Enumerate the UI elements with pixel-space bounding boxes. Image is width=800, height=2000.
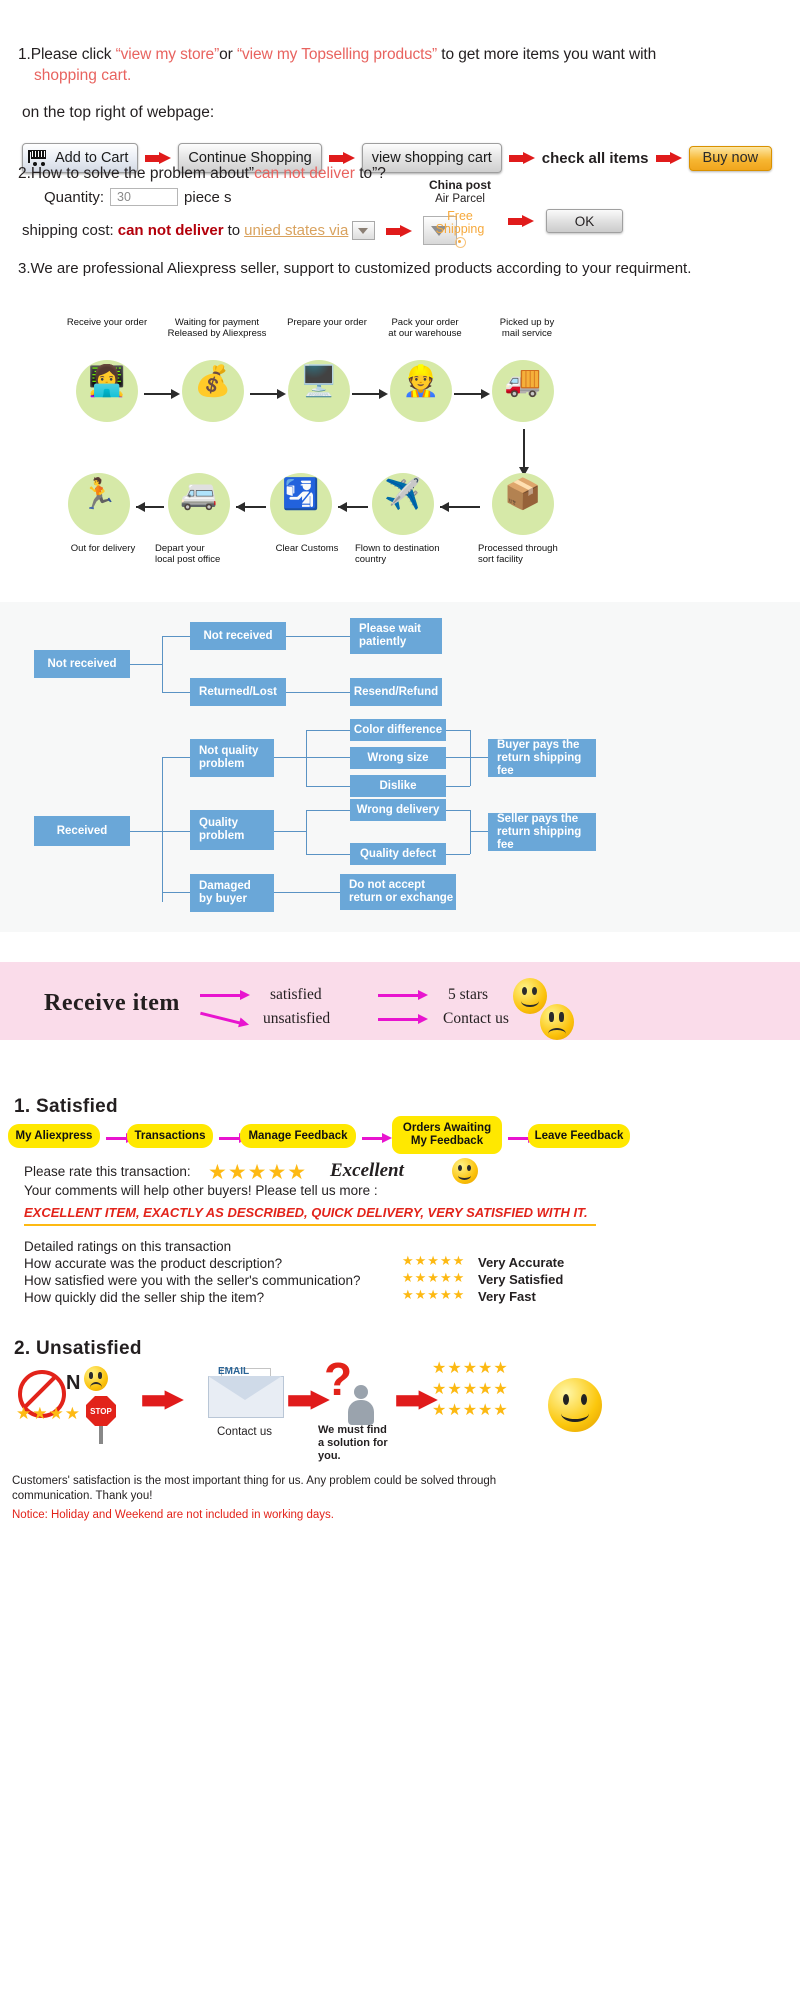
shipping-cost-error: can not deliver [118,222,224,239]
no-letter-label: N [66,1372,80,1395]
check-all-items-label[interactable]: check all items [542,150,649,167]
email-label: EMAIL [218,1366,249,1377]
unsatisfied-heading: 2. Unsatisfied [14,1338,142,1360]
fc-line-5 [286,636,350,637]
return-policy-flowchart: Not received Not received Returned/Lost … [0,602,800,932]
instruction-line-1: 1.Please click “view my store”or “view m… [18,46,656,64]
fc-line-16 [306,786,350,787]
money-bag-icon: 💰 [178,367,248,397]
arrow-right-icon-4 [656,152,682,164]
solution-caption: We must find a solution for you. [318,1424,388,1463]
customs-stamp-icon: 🛂 [266,480,336,510]
detail-verdict-1: Very Accurate [478,1255,564,1270]
continue-shopping-label: Continue Shopping [188,150,311,166]
arrow-right-icon-3 [509,152,535,164]
fc-line-20 [470,730,471,786]
flow-top-label-5: Picked up by mail service [472,317,582,339]
sad-face-icon [540,1004,574,1040]
footer-line-2: communication. Thank you! [12,1489,152,1504]
fc-line-10 [162,831,190,832]
fc-line-25 [306,854,350,855]
stop-octagon: STOP [86,1396,116,1426]
fc-line-19 [446,786,470,787]
fc-line-2 [162,636,163,692]
add-to-cart-label: Add to Cart [55,150,128,166]
fc-quality-problem: Quality problem [190,810,274,850]
fc-line-30 [274,892,340,893]
fc-line-12 [274,757,306,758]
shipping-problem-heading: 2.How to solve the problem about”can not… [18,165,386,183]
fc-no-return: Do not accept return or exchange [340,874,456,910]
fc-line-7 [130,831,162,832]
person-at-computer-icon: 👩‍💻 [72,367,142,397]
worried-face-icon [84,1366,108,1391]
fc-returned-lost: Returned/Lost [190,678,286,706]
fc-damaged-by-buyer: Damaged by buyer [190,874,274,912]
big-happy-face-icon [548,1378,602,1432]
heading-highlight: can not deliver [254,165,355,182]
comment-underline [24,1224,596,1226]
sorting-parcels-icon: 📦 [488,480,558,510]
email-flap [208,1376,282,1400]
quantity-row: Quantity: 30 piece s [44,188,232,206]
worker-packing-icon: 👷 [386,367,456,397]
carrier-info: China post Air Parcel [415,178,505,205]
fc-line-29 [470,831,488,832]
fc-line-6 [286,692,350,693]
link-view-topselling[interactable]: “view my Topselling products” [237,46,437,63]
fc-not-received-child-1: Not received [190,622,286,650]
shipping-process-diagram: Receive your order Waiting for payment R… [0,305,660,585]
ok-button[interactable]: OK [546,209,623,233]
fc-line-22 [274,831,306,832]
post-van-icon: 🚐 [164,480,234,510]
airplane-icon: ✈️ [368,480,438,510]
instruction-line-3: on the top right of webpage: [22,104,214,122]
flow-top-label-3: Prepare your order [272,317,382,328]
banner-unsatisfied-text: unsatisfied [263,1010,330,1028]
fc-line-9 [162,757,190,758]
arrow-right-icon-1 [145,152,171,164]
fc-not-quality-problem: Not quality problem [190,739,274,777]
instruction-mid: or [219,46,237,63]
detail-question-1: How accurate was the product description… [24,1255,282,1272]
flow-bottom-label-4: Flown to destination country [355,543,470,565]
step-my-aliexpress[interactable]: My Aliexpress [8,1124,100,1148]
promo-page: 1.Please click “view my store”or “view m… [0,0,800,2000]
step-manage-feedback[interactable]: Manage Feedback [240,1124,356,1148]
free-shipping-label: Free Shipping [436,209,485,236]
fc-line-11 [162,892,190,893]
shipping-cost-label: shipping cost: [22,222,114,239]
running-courier-icon: 🏃 [64,480,134,510]
footer-notice: Notice: Holiday and Weekend are not incl… [12,1508,334,1523]
instruction-suffix: to get more items you want with [437,46,656,63]
fc-line-14 [306,730,350,731]
shipping-cost-row: shipping cost:can not deliver to unied s… [22,216,457,245]
fc-not-received-root: Not received [34,650,130,678]
fc-line-1 [130,664,162,665]
fc-please-wait: Please wait patiently [350,618,442,654]
fc-line-17 [446,730,470,731]
fc-line-23 [306,810,307,854]
unsatisfied-stars-block: ★★★★★ ★★★★★ ★★★★★ [432,1358,509,1421]
banner-title: Receive item [44,990,180,1017]
satisfied-heading: 1. Satisfied [14,1096,118,1118]
flow-top-label-4: Pack your order at our warehouse [370,317,480,339]
detail-verdict-3: Very Fast [478,1289,536,1304]
flow-top-label-1: Receive your order [52,317,162,328]
fc-line-21 [470,757,488,758]
comment-text: EXCELLENT ITEM, EXACTLY AS DESCRIBED, QU… [24,1205,588,1220]
fc-dislike: Dislike [350,775,446,797]
arrow-right-icon-6 [508,215,534,227]
fc-wrong-size: Wrong size [350,747,446,769]
fc-line-18 [446,757,470,758]
fc-color-difference: Color difference [350,719,446,741]
fc-line-8 [162,757,163,902]
step-orders-awaiting[interactable]: Orders Awaiting My Feedback [392,1116,502,1154]
flow-bottom-label-3: Clear Customs [252,543,362,554]
arrow-right-icon-5 [386,225,412,237]
flow-bottom-label-1: Out for delivery [48,543,158,554]
stop-post [99,1426,103,1444]
step-leave-feedback[interactable]: Leave Feedback [528,1124,630,1148]
buy-now-button[interactable]: Buy now [689,146,773,171]
quantity-input[interactable]: 30 [110,188,178,206]
fc-line-27 [446,854,470,855]
heading-suffix: to”? [355,165,386,182]
delivery-truck-icon: 🚚 [488,367,558,397]
rating-verdict: Excellent [330,1160,404,1182]
fc-line-4 [162,692,190,693]
fc-line-24 [306,810,350,811]
comments-prompt: Your comments will help other buyers! Pl… [24,1182,378,1199]
buy-now-label: Buy now [703,150,759,166]
flow-bottom-label-5: Processed through sort facility [478,543,593,565]
fc-wrong-delivery: Wrong delivery [350,799,446,821]
footer-line-1: Customers' satisfaction is the most impo… [12,1474,496,1489]
banner-contact-us-text: Contact us [443,1010,509,1028]
rating-happy-face-icon [452,1158,478,1184]
carrier-type: Air Parcel [415,193,505,205]
banner-5-stars-text: 5 stars [448,986,488,1004]
fc-line-3 [162,636,190,637]
shipping-to-text: to [228,222,241,239]
detail-question-3: How quickly did the seller ship the item… [24,1289,264,1306]
flow-arrow-down [523,429,525,467]
fc-buyer-pays: Buyer pays the return shipping fee [488,739,596,777]
contact-us-caption: Contact us [217,1424,272,1441]
bad-rating-stars: ★★★★ [16,1404,81,1424]
fc-seller-pays: Seller pays the return shipping fee [488,813,596,851]
fc-line-26 [446,810,470,811]
fc-resend-refund: Resend/Refund [350,678,442,706]
detail-verdict-2: Very Satisfied [478,1272,563,1287]
quantity-unit: piece s [184,189,232,206]
instruction-line-2: shopping cart. [34,67,131,85]
shopping-cart-icon [28,150,50,166]
step-transactions[interactable]: Transactions [127,1124,213,1148]
banner-satisfied-text: satisfied [270,986,322,1004]
shipping-country-link[interactable]: unied states via [244,222,348,239]
flow-bottom-label-2: Depart your local post office [155,543,265,565]
arrow-right-icon-2 [329,152,355,164]
instruction-prefix: 1.Please click [18,46,116,63]
detail-question-2: How satisfied were you with the seller's… [24,1272,360,1289]
fc-line-28 [470,810,471,854]
country-dropdown-small[interactable] [352,221,375,240]
computer-box-icon: 🖥️ [284,367,354,397]
happy-face-icon [513,978,547,1014]
fc-quality-defect: Quality defect [350,843,446,865]
quantity-label: Quantity: [44,189,104,206]
rate-transaction-label: Please rate this transaction: [24,1163,191,1180]
fc-line-13 [306,730,307,786]
heading-prefix: 2.How to solve the problem about” [18,165,254,182]
detail-stars-3: ★★★★★ [402,1287,465,1303]
link-view-my-store[interactable]: “view my store” [116,46,220,63]
person-icon [346,1385,376,1425]
arrow-right-icon-7 [142,1390,184,1409]
flow-top-label-2: Waiting for payment Released by Aliexpre… [157,317,277,339]
detail-stars-1: ★★★★★ [402,1253,465,1269]
fc-line-15 [306,757,350,758]
section-customization-heading: 3.We are professional Aliexpress seller,… [18,260,691,277]
carrier-name: China post [415,178,505,192]
detailed-ratings-heading: Detailed ratings on this transaction [24,1238,231,1255]
detail-stars-2: ★★★★★ [402,1270,465,1286]
info-dot-icon [455,237,466,248]
view-shopping-cart-label: view shopping cart [372,150,492,166]
fc-received-root: Received [34,816,130,846]
stop-sign-icon: STOP [86,1396,116,1444]
free-shipping-badge: Free Shipping [418,210,502,248]
ok-label: OK [575,214,595,229]
